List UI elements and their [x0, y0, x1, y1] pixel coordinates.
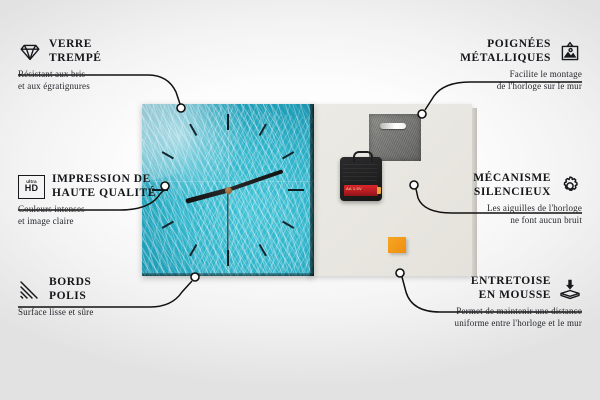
polished-edges-icon — [18, 278, 42, 302]
callout-subtitle-line2: ne font aucun bruit — [352, 214, 582, 226]
callout-subtitle-line1: Permet de maintenir une distance — [332, 302, 582, 317]
callout-title-line2: POLIS — [49, 290, 91, 304]
callout-title-line1: BORDS — [49, 276, 91, 290]
clock-tick — [227, 114, 229, 190]
callout-subtitle-line1: Couleurs intenses — [18, 200, 218, 215]
callout-subtitle-line2: uniforme entre l'horloge et le mur — [332, 317, 582, 329]
callout-title-line1: VERRE — [49, 38, 102, 52]
ultra-hd-icon-main: HD — [25, 184, 38, 194]
clock-tick — [228, 189, 304, 191]
callout-entretoise-en-mousse: ENTRETOISE EN MOUSSE Permet de maintenir… — [332, 275, 582, 329]
clock-right-edge — [310, 104, 314, 276]
press-down-layer-icon — [558, 277, 582, 301]
infographic-canvas: AA 1.5V — [0, 0, 600, 400]
callout-title-line1: IMPRESSION DE — [52, 173, 156, 187]
callout-title-line2: SILENCIEUX — [473, 186, 551, 200]
callout-bords-polis: BORDS POLIS Surface lisse et sûre — [18, 276, 208, 318]
framed-picture-hanging-icon — [558, 40, 582, 64]
callout-title-line1: POIGNÉES — [460, 38, 551, 52]
gear-icon — [558, 174, 582, 198]
callout-subtitle-line1: Facilite le montage — [362, 65, 582, 80]
callout-subtitle-line1: Surface lisse et sûre — [18, 303, 208, 318]
callout-subtitle-line1: Résistant aux bris — [18, 65, 208, 80]
callout-subtitle-line1: Les aiguilles de l'horloge — [352, 199, 582, 214]
clock-center-hub — [225, 187, 232, 194]
diamond-icon — [18, 40, 42, 64]
callout-subtitle-line2: et image claire — [18, 215, 218, 227]
callout-title-line2: MÉTALLIQUES — [460, 52, 551, 66]
hanger-slot — [380, 123, 406, 129]
callout-subtitle-line2: de l'horloge sur le mur — [362, 80, 582, 92]
callout-verre-trempe: VERRE TREMPÉ Résistant aux bris et aux é… — [18, 38, 208, 92]
callout-impression-haute-qualite: ultra HD IMPRESSION DE HAUTE QUALITÉ Cou… — [18, 173, 218, 227]
callout-title-line2: EN MOUSSE — [471, 289, 551, 303]
foam-spacer — [388, 237, 406, 253]
callout-poignees-metalliques: POIGNÉES MÉTALLIQUES Facilite le montage… — [362, 38, 582, 92]
callout-title-line2: TREMPÉ — [49, 52, 102, 66]
callout-title-line1: ENTRETOISE — [471, 275, 551, 289]
callout-subtitle-line2: et aux égratignures — [18, 80, 208, 92]
ultra-hd-icon: ultra HD — [18, 175, 45, 199]
callout-title-line2: HAUTE QUALITÉ — [52, 187, 156, 201]
callout-mecanisme-silencieux: MÉCANISME SILENCIEUX Les aiguilles de l'… — [352, 172, 582, 226]
hanger-plate — [369, 114, 421, 161]
callout-title-line1: MÉCANISME — [473, 172, 551, 186]
